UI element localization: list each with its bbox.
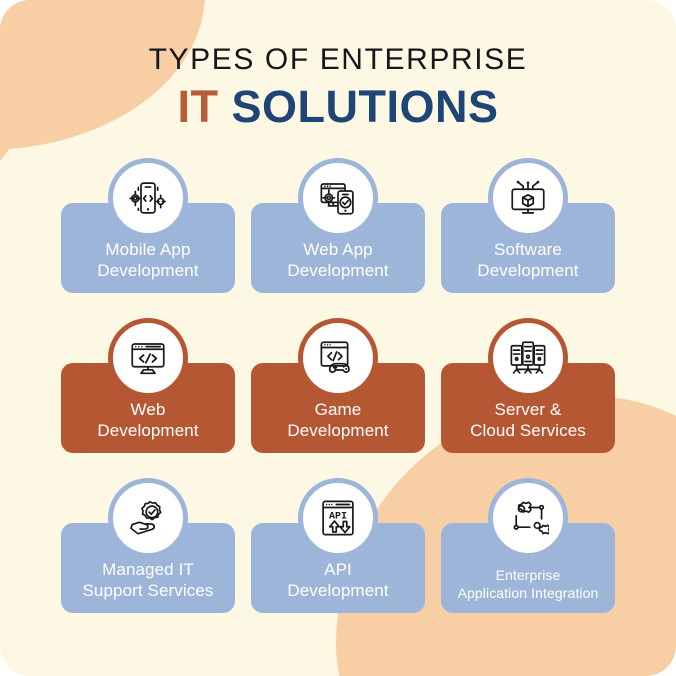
card-row: Managed IT Support Services API — [61, 523, 615, 613]
card-row: Web Development — [61, 363, 615, 453]
card-label: Server & Cloud Services — [470, 399, 586, 442]
monitor-phone-check-icon — [298, 158, 378, 238]
card-web-app-development[interactable]: Web App Development — [251, 203, 425, 293]
card-managed-it-support-services[interactable]: Managed IT Support Services — [61, 523, 235, 613]
card-mobile-app-development[interactable]: Mobile App Development — [61, 203, 235, 293]
browser-code-gamepad-icon — [298, 318, 378, 398]
title-subheading: TYPES OF ENTERPRISE — [0, 44, 676, 76]
card-label: Managed IT Support Services — [82, 559, 213, 602]
card-label: Mobile App Development — [97, 239, 198, 282]
monitor-code-icon — [108, 318, 188, 398]
monitor-cube-nodes-icon — [488, 158, 568, 238]
card-label: Enterprise Application Integration — [458, 566, 599, 602]
card-grid: Mobile App Development — [61, 203, 615, 613]
card-game-development[interactable]: Game Development — [251, 363, 425, 453]
title-accent-word: IT — [177, 81, 218, 132]
card-software-development[interactable]: Software Development — [441, 203, 615, 293]
title-main-word: SOLUTIONS — [232, 81, 499, 132]
browser-api-arrows-icon: API — [298, 478, 378, 558]
title-heading: IT SOLUTIONS — [0, 80, 676, 133]
mobile-code-gear-icon — [108, 158, 188, 238]
card-label: Game Development — [287, 399, 388, 442]
page-title: TYPES OF ENTERPRISE IT SOLUTIONS — [0, 44, 676, 133]
connected-gears-icon — [488, 478, 568, 558]
card-label: Software Development — [477, 239, 578, 282]
hand-gear-check-icon — [108, 478, 188, 558]
card-label: API Development — [287, 559, 388, 602]
card-server-cloud-services[interactable]: Server & Cloud Services — [441, 363, 615, 453]
card-web-development[interactable]: Web Development — [61, 363, 235, 453]
infographic-canvas: TYPES OF ENTERPRISE IT SOLUTIONS — [0, 0, 676, 676]
card-label: Web App Development — [287, 239, 388, 282]
card-enterprise-application-integration[interactable]: Enterprise Application Integration — [441, 523, 615, 613]
card-row: Mobile App Development — [61, 203, 615, 293]
card-label: Web Development — [97, 399, 198, 442]
server-racks-icon — [488, 318, 568, 398]
card-api-development[interactable]: API API Development — [251, 523, 425, 613]
